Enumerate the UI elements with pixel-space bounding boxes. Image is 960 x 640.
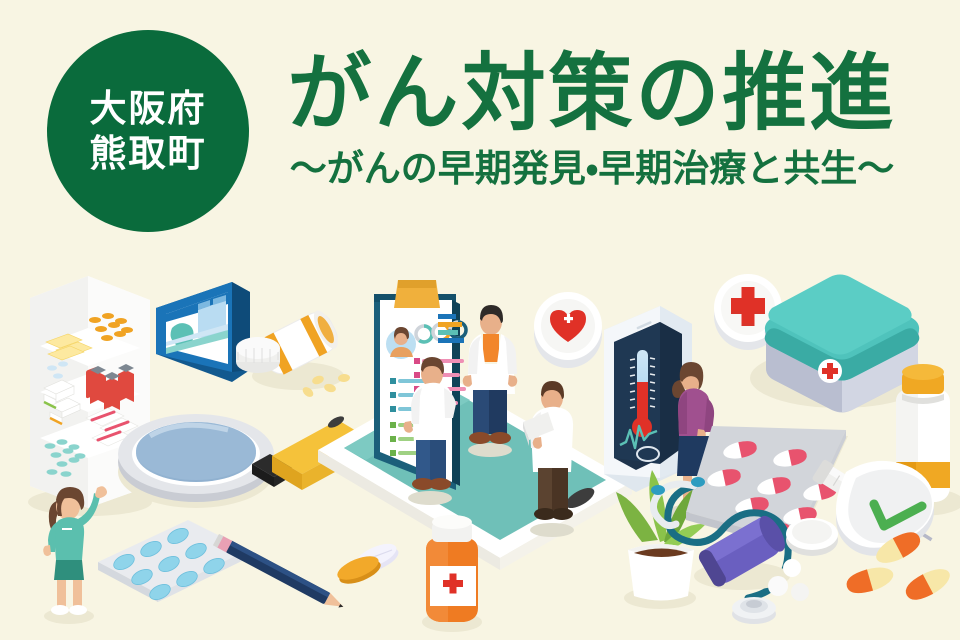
page-title: がん対策の推進	[262, 48, 922, 139]
monitor-brain-scan	[156, 282, 250, 382]
title-block: がん対策の推進 〜がんの早期発見・早期治療と共生〜	[262, 48, 922, 189]
pill-bottle-orange-striped	[236, 307, 350, 399]
bottle-cap	[236, 337, 280, 373]
pencil	[213, 534, 346, 613]
badge-prefecture-label: 大阪府	[90, 88, 207, 129]
illustration-svg	[0, 250, 960, 640]
blister-pack-blue	[98, 520, 250, 603]
kit-cross-icon	[818, 359, 842, 383]
banner-header: 大阪府 熊取町 がん対策の推進 〜がんの早期発見・早期治療と共生〜	[0, 0, 960, 250]
badge-town-label: 熊取町	[90, 133, 207, 174]
municipality-badge: 大阪府 熊取町	[47, 30, 249, 232]
health-promotion-banner: 大阪府 熊取町 がん対策の推進 〜がんの早期発見・早期治療と共生〜	[0, 0, 960, 640]
medical-illustration	[0, 250, 960, 640]
page-subtitle: 〜がんの早期発見・早期治療と共生〜	[262, 149, 922, 190]
heart-badge	[534, 292, 602, 368]
